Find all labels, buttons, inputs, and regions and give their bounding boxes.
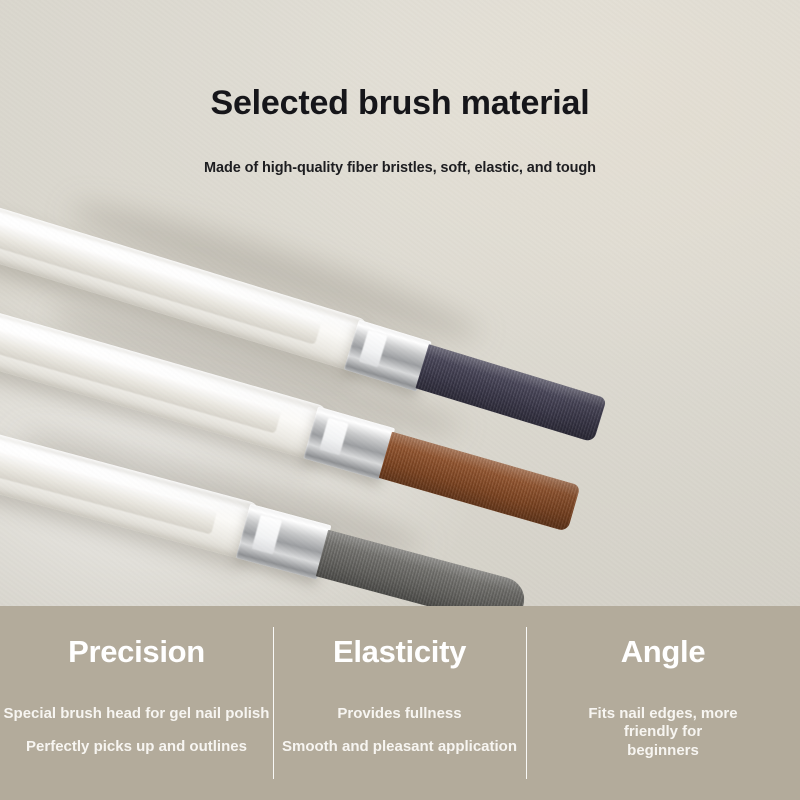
feature-line: Special brush head for gel nail polish bbox=[4, 705, 270, 723]
feature-line: Perfectly picks up and outlines bbox=[26, 738, 247, 756]
feature-title-precision: Precision bbox=[68, 636, 205, 667]
feature-title-angle: Angle bbox=[621, 636, 706, 667]
product-feature-banner: Selected brush material Made of high-qua… bbox=[0, 0, 800, 800]
feature-column-angle: Angle Fits nail edges, more friendly for… bbox=[526, 606, 800, 800]
brush-navy-ferrule-highlight bbox=[359, 330, 387, 367]
brush-brown-bristles bbox=[379, 432, 581, 532]
feature-lines-precision: Special brush head for gel nail polish P… bbox=[4, 705, 270, 757]
feature-column-precision: Precision Special brush head for gel nai… bbox=[0, 606, 273, 800]
feature-footer: Precision Special brush head for gel nai… bbox=[0, 606, 800, 800]
feature-title-elasticity: Elasticity bbox=[333, 636, 466, 667]
feature-line: Provides fullness bbox=[337, 705, 461, 723]
footer-divider-right bbox=[526, 627, 527, 779]
feature-column-elasticity: Elasticity Provides fullness Smooth and … bbox=[273, 606, 526, 800]
footer-divider-left bbox=[273, 627, 274, 779]
feature-lines-angle: Fits nail edges, more friendly for begin… bbox=[588, 705, 737, 760]
brush-gray-bristles bbox=[316, 530, 529, 606]
page-title: Selected brush material bbox=[0, 84, 800, 123]
feature-lines-elasticity: Provides fullness Smooth and pleasant ap… bbox=[282, 705, 517, 757]
brush-brown-ferrule-highlight bbox=[319, 417, 348, 455]
feature-line: Fits nail edges, more friendly for begin… bbox=[588, 705, 737, 760]
brush-gray-ferrule-highlight bbox=[252, 515, 282, 554]
page-subtitle: Made of high-quality fiber bristles, sof… bbox=[0, 160, 800, 176]
feature-line: Smooth and pleasant application bbox=[282, 738, 517, 756]
